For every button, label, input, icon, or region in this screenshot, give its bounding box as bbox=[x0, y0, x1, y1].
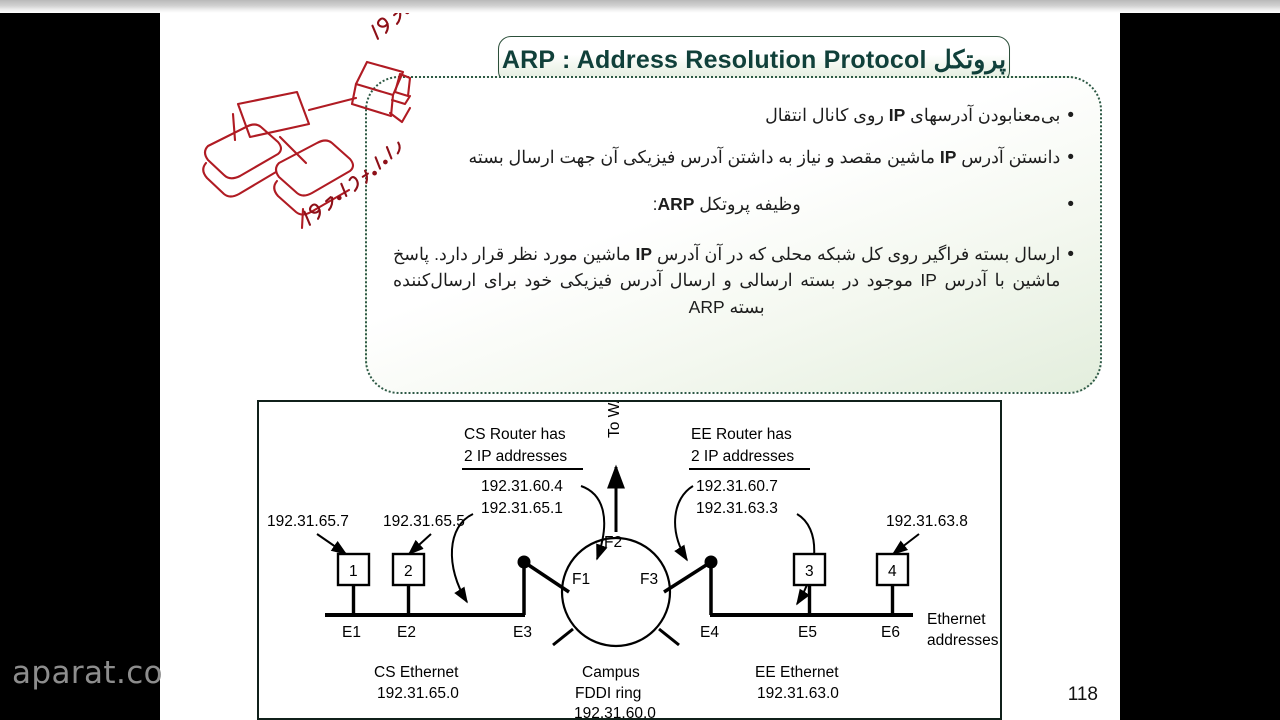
bullet-item: • وظیفه پروتکل ARP: bbox=[393, 191, 1074, 219]
bullet-item: • بی‌معنابودن آدرسهای IP روی کانال انتقا… bbox=[393, 102, 1074, 130]
bullet-dot-icon: • bbox=[1067, 102, 1074, 130]
bullet-dot-icon: • bbox=[1067, 191, 1074, 219]
ee-ethernet-name: EE Ethernet bbox=[755, 664, 839, 681]
bullet-dot-icon: • bbox=[1067, 241, 1074, 321]
network-diagram: CS Router has 2 IP addresses 192.31.60.4… bbox=[257, 400, 1002, 720]
bullet-item: • دانستن آدرس IP ماشین مقصد و نیاز به دا… bbox=[393, 144, 1074, 172]
eth-port-e6: E6 bbox=[881, 624, 900, 641]
campus-line1: Campus bbox=[582, 664, 640, 681]
slide-page-number: 118 bbox=[1068, 684, 1098, 706]
cs-router-label-line1: CS Router has bbox=[464, 426, 566, 443]
inline-term: IP bbox=[940, 144, 957, 171]
eth-port-e1: E1 bbox=[342, 624, 361, 641]
ethernet-addresses-note-line1: Ethernet bbox=[927, 611, 986, 628]
eth-port-e3: E3 bbox=[513, 624, 532, 641]
video-player-stage: پروتکل ARP : Address Resolution Protocol… bbox=[0, 0, 1280, 720]
bullet-text: دانستن آدرس IP ماشین مقصد و نیاز به داشت… bbox=[393, 144, 1060, 172]
eth-port-e5: E5 bbox=[798, 624, 817, 641]
ee-router-address-1: 192.31.60.7 bbox=[696, 478, 778, 495]
ee-router-address-2: 192.31.63.3 bbox=[696, 500, 778, 517]
cs-ethernet-name: CS Ethernet bbox=[374, 664, 459, 681]
inline-term: ARP bbox=[657, 191, 694, 218]
campus-network: 192.31.60.0 bbox=[574, 705, 656, 718]
ee-router-label-line1: EE Router has bbox=[691, 426, 792, 443]
host-2-ip: 192.31.65.5 bbox=[383, 513, 465, 530]
letterbox-right bbox=[1120, 0, 1280, 720]
to-wan-label: To WAN bbox=[606, 402, 623, 438]
cs-router-address-1: 192.31.60.4 bbox=[481, 478, 563, 495]
host-1-ip: 192.31.65.7 bbox=[267, 513, 349, 530]
campus-line2: FDDI ring bbox=[575, 685, 641, 702]
ee-ethernet-network: 192.31.63.0 bbox=[757, 685, 839, 702]
fddi-port-f2: F2 bbox=[604, 534, 622, 551]
cs-ethernet-network: 192.31.65.0 bbox=[377, 685, 459, 702]
inline-term: IP bbox=[636, 241, 653, 268]
ee-router-label-line2: 2 IP addresses bbox=[691, 448, 794, 465]
host-box-label-4: 4 bbox=[888, 563, 897, 580]
inline-term: IP bbox=[889, 102, 906, 129]
page-title: پروتکل ARP : Address Resolution Protocol bbox=[502, 45, 1006, 75]
aparat-watermark: aparat.co bbox=[12, 655, 163, 691]
player-top-bar bbox=[0, 0, 1280, 13]
ethernet-addresses-note-line2: addresses bbox=[927, 632, 999, 649]
bullet-dot-icon: • bbox=[1067, 144, 1074, 172]
fddi-port-f0: F3 bbox=[640, 571, 658, 588]
fddi-port-f1: F1 bbox=[572, 571, 590, 588]
cs-router-address-2: 192.31.65.1 bbox=[481, 500, 563, 517]
bullet-text: ارسال بسته فراگیر روی کل شبکه محلی که در… bbox=[393, 241, 1060, 321]
letterbox-left bbox=[0, 0, 160, 720]
cs-router-label-line2: 2 IP addresses bbox=[464, 448, 567, 465]
bullet-text: وظیفه پروتکل ARP: bbox=[393, 191, 1060, 219]
host-box-label-1: 1 bbox=[349, 563, 358, 580]
presentation-slide: پروتکل ARP : Address Resolution Protocol… bbox=[160, 12, 1120, 720]
bullet-item: • ارسال بسته فراگیر روی کل شبکه محلی که … bbox=[393, 241, 1074, 321]
bullet-text: بی‌معنابودن آدرسهای IP روی کانال انتقال bbox=[393, 102, 1060, 130]
host-box-label-2: 2 bbox=[404, 563, 413, 580]
host-box-label-3: 3 bbox=[805, 563, 814, 580]
eth-port-e2: E2 bbox=[397, 624, 416, 641]
eth-port-e4: E4 bbox=[700, 624, 719, 641]
content-box: • بی‌معنابودن آدرسهای IP روی کانال انتقا… bbox=[365, 76, 1102, 394]
host-4-ip: 192.31.63.8 bbox=[886, 513, 968, 530]
